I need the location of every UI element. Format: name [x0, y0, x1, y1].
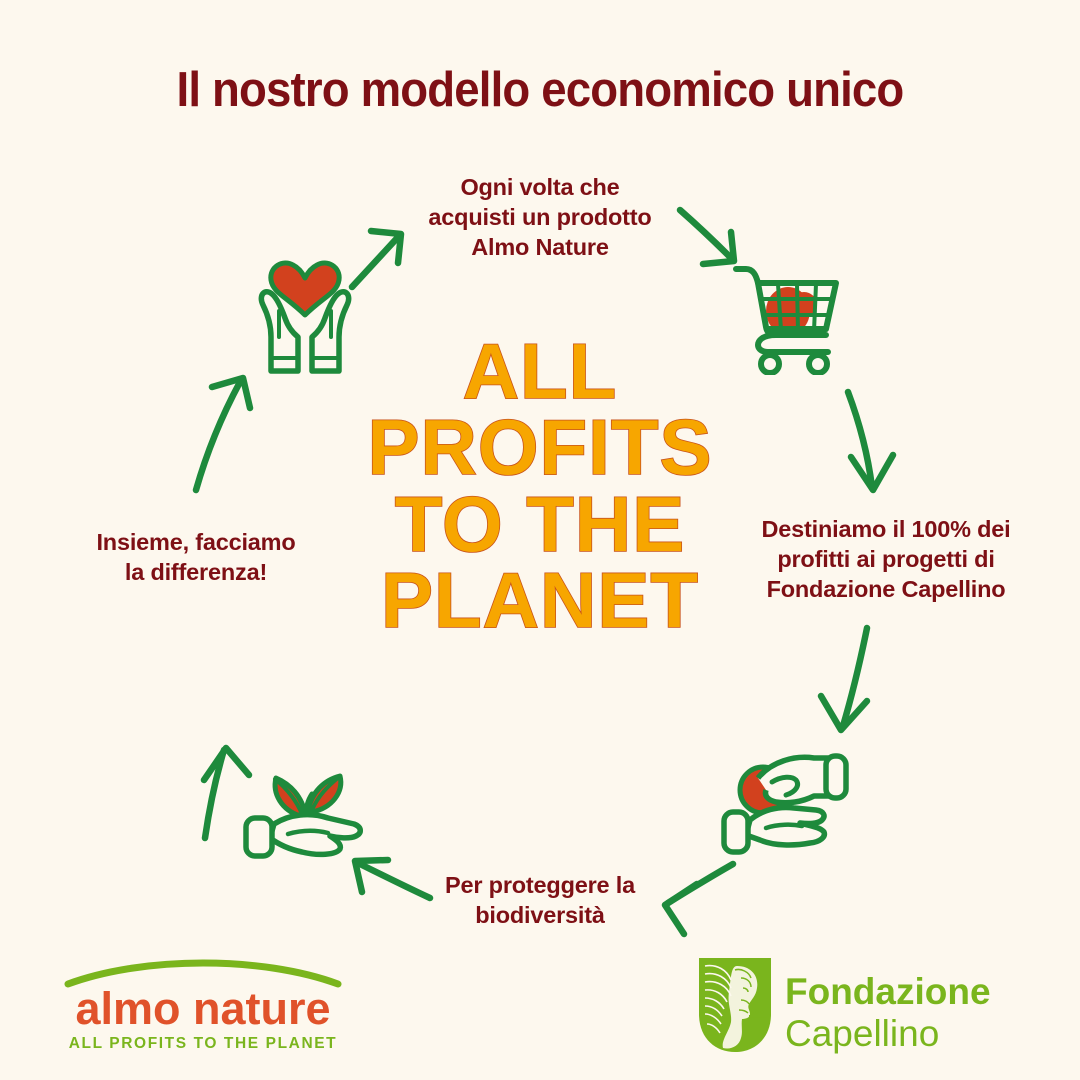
cycle-arrows — [0, 0, 1080, 1080]
arrow-bottom-right-to-bottom — [665, 864, 733, 934]
fondazione-line-1: Fondazione — [785, 971, 991, 1012]
arrow-right-to-bottom — [821, 628, 867, 730]
almo-nature-logo: almo nature ALL PROFITS TO THE PLANET — [64, 958, 342, 1054]
hands-holding-heart-icon — [243, 253, 367, 375]
arrow-left-up-to-heart — [196, 378, 250, 490]
woman-profile-shield-emblem — [699, 958, 771, 1052]
hand-giving-coin-icon — [716, 740, 852, 860]
almo-nature-tagline: ALL PROFITS TO THE PLANET — [69, 1035, 338, 1052]
shopping-cart-icon — [722, 253, 846, 375]
fondazione-line-2: Capellino — [785, 1013, 939, 1054]
fondazione-capellino-logo: Fondazione Capellino — [697, 956, 1017, 1056]
almo-nature-wordmark: almo nature — [75, 983, 330, 1034]
arrow-right-down — [848, 392, 893, 490]
infographic-canvas: Il nostro modello economico unico ALL PR… — [0, 0, 1080, 1080]
hand-holding-seedling-icon — [238, 738, 378, 860]
almo-nature-arc — [68, 963, 338, 984]
arrow-bottom-to-left — [355, 860, 430, 898]
